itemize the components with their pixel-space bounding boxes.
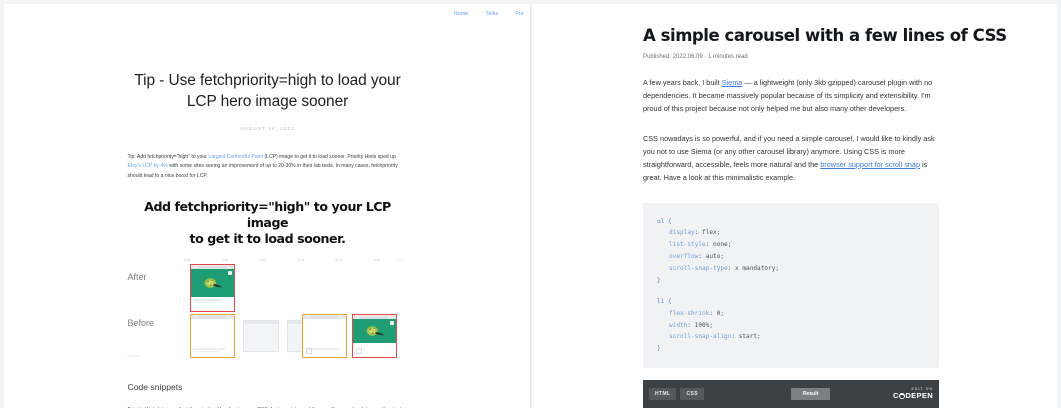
code-rule-2-close: } <box>657 343 925 355</box>
hero-illustration-icon <box>199 276 225 291</box>
frame-empty-hero <box>303 319 346 346</box>
frame-placeholder-box <box>306 348 312 354</box>
code-rule-1-close: } <box>657 275 925 287</box>
code-rule-2-selector: li { <box>657 296 925 308</box>
codepen-wordmark-prefix: C <box>893 391 899 400</box>
code-blank-line <box>657 287 925 296</box>
tick-7: 7.0s <box>397 258 403 262</box>
tick-3: 3.0s <box>260 258 266 262</box>
filmstrip-frame-before-1 <box>190 314 235 358</box>
tick-5: 5.0s <box>336 258 342 262</box>
figure-headline-line-1: Add fetchpriority="high" to your LCP ima… <box>128 199 408 230</box>
code-property: scroll-snap-type <box>669 265 728 272</box>
code-rule-1-line-3: overflow: auto; <box>657 251 925 263</box>
code-value: : flex; <box>695 229 721 236</box>
tick-4: 4.0s <box>298 258 304 262</box>
filmstrip-frame-before-4 <box>302 314 347 358</box>
left-para1-text-b: (LCP) image to get it to load sooner. Pr… <box>263 154 396 160</box>
left-article-date: AUGUST 14, 2022 <box>128 126 408 131</box>
code-property: overflow <box>669 253 698 260</box>
figure-credit: web.dev <box>128 354 140 358</box>
link-siema[interactable]: Siema <box>722 78 743 87</box>
code-property: scroll-snap-align <box>669 333 731 340</box>
frame-placeholder-box <box>356 348 362 354</box>
frame-content-lines <box>191 297 234 303</box>
frame-browser-chrome <box>244 321 278 324</box>
filmstrip-frame-before-2 <box>243 320 279 352</box>
tick-6: 6.0s <box>374 258 380 262</box>
code-rule-1-line-2: list-style: none; <box>657 239 925 251</box>
code-value: : start; <box>731 333 760 340</box>
right-article-title: A simple carousel with a few lines of CS… <box>643 26 1035 47</box>
nav-link-pre[interactable]: Pre <box>515 11 524 17</box>
codepen-tab-html[interactable]: HTML <box>649 388 676 400</box>
filmstrip-row-label-after: After <box>128 272 147 282</box>
right-browser-pane: A simple carousel with a few lines of CS… <box>532 4 1057 408</box>
codepen-embed-toolbar: HTML CSS Result EDIT ON CDEPEN <box>643 380 939 408</box>
hero-corner-box <box>228 271 232 275</box>
code-value: : x mandatory; <box>728 265 779 272</box>
hero-corner-box <box>390 321 394 325</box>
right-article-paragraph-1: A few years back, I built Siema — a ligh… <box>643 77 939 116</box>
frame-hero-image <box>353 319 396 343</box>
left-article: Tip - Use fetchpriority=high to load you… <box>4 24 531 408</box>
tick-1: 1.0s <box>184 258 190 262</box>
code-rule-2-line-1: flex-shrink: 0; <box>657 308 925 320</box>
nav-link-talks[interactable]: Talks <box>485 11 498 17</box>
right-article-paragraph-2: CSS nowadays is so powerful, and if you … <box>643 133 939 185</box>
right-article: A simple carousel with a few lines of CS… <box>532 4 1057 368</box>
left-para1-text-c: with some sites seeing an improvement of… <box>128 163 398 178</box>
filmstrip-frame-before-5 <box>352 314 397 358</box>
filmstrip-ellipsis-2: · · <box>281 332 286 336</box>
code-value: : 100%; <box>687 322 713 329</box>
code-property: width <box>669 322 687 329</box>
frame-content-lines <box>191 346 234 352</box>
lcp-figure: Add fetchpriority="high" to your LCP ima… <box>128 199 408 356</box>
tick-2: 2.0s <box>222 258 228 262</box>
hero-illustration-icon <box>361 324 387 339</box>
code-rule-2-line-3: scroll-snap-align: start; <box>657 331 925 343</box>
codepen-wordmark-suffix: DEPEN <box>905 391 933 400</box>
link-etsy-lcp[interactable]: Etsy's LCP by 4% <box>128 163 168 169</box>
code-rule-1-selector: ul { <box>657 216 925 228</box>
codepen-tab-result[interactable]: Result <box>791 388 830 400</box>
nav-link-home[interactable]: Home <box>454 11 469 17</box>
codepen-wordmark: CDEPEN <box>893 392 933 400</box>
link-largest-contentful-paint[interactable]: Largest Contentful Paint <box>208 154 263 160</box>
codepen-brand[interactable]: EDIT ON CDEPEN <box>893 388 933 400</box>
filmstrip-comparison: 1.0s 2.0s 3.0s 4.0s 5.0s 6.0s 7.0s After… <box>128 258 408 356</box>
code-property: flex-shrink <box>669 310 709 317</box>
left-article-paragraph-1: Tip: Add fetchpriority="high" to your La… <box>128 153 408 181</box>
codepen-tab-group: HTML CSS <box>649 388 704 400</box>
left-browser-pane: Home Talks Pre Tip - Use fetchpriority=h… <box>4 4 531 408</box>
code-rule-2-line-2: width: 100%; <box>657 320 925 332</box>
code-rule-1-line-4: scroll-snap-type: x mandatory; <box>657 263 925 275</box>
codepen-tab-css[interactable]: CSS <box>680 388 703 400</box>
code-rule-1-line-1: display: flex; <box>657 227 925 239</box>
screenshot-root: Home Talks Pre Tip - Use fetchpriority=h… <box>0 0 1061 408</box>
filmstrip-row-label-before: Before <box>128 318 155 328</box>
left-article-title: Tip - Use fetchpriority=high to load you… <box>128 71 408 113</box>
code-property: display <box>669 229 695 236</box>
filmstrip-frame-after <box>190 264 235 312</box>
code-value: : none; <box>706 241 732 248</box>
figure-headline: Add fetchpriority="high" to your LCP ima… <box>128 199 408 246</box>
left-top-navigation: Home Talks Pre <box>4 4 530 24</box>
right-article-meta: Published: 2022.06.09 · 1 minutes read <box>643 54 1035 60</box>
css-code-block: ul { display: flex; list-style: none; ov… <box>643 203 939 369</box>
code-property: list-style <box>669 241 706 248</box>
left-section-heading: Code snippets <box>128 382 408 392</box>
code-value: : 0; <box>709 310 724 317</box>
frame-empty-hero <box>191 319 234 346</box>
right-para1-text-a: A few years back, I built <box>643 78 722 87</box>
left-para1-text-a: Tip: Add fetchpriority="high" to your <box>128 154 209 160</box>
frame-hero-image <box>191 269 234 297</box>
filmstrip-ellipsis-1: · · <box>238 332 243 336</box>
link-browser-support-scroll-snap[interactable]: browser support for scroll snap <box>820 160 920 169</box>
code-value: : auto; <box>698 253 724 260</box>
figure-headline-line-2: to get it to load sooner. <box>128 231 408 247</box>
